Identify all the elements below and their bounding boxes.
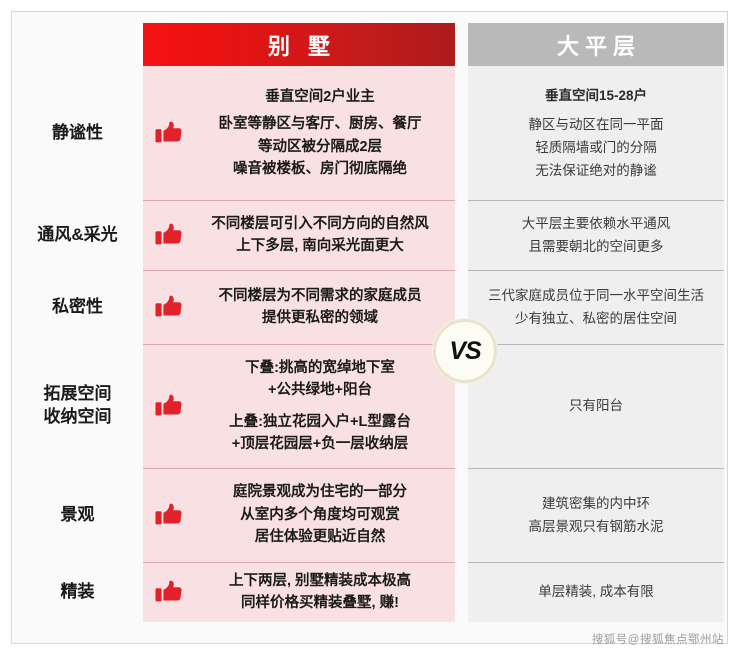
flat-cell-text: 只有阳台 — [476, 394, 716, 417]
villa-row-divider-2 — [143, 344, 455, 345]
villa-header-label: 别 墅 — [262, 29, 336, 61]
thumbs-up-icon — [149, 500, 191, 530]
vs-badge: VS — [433, 319, 497, 383]
villa-cell-1: 不同楼层可引入不同方向的自然风上下多层, 南向采光面更大 — [143, 200, 455, 270]
row-label-text: 景观 — [61, 504, 95, 527]
thumbs-up-icon — [149, 391, 191, 421]
column-gap — [455, 562, 468, 622]
flat-cell-text: 建筑密集的内中环高层景观只有钢筋水泥 — [476, 492, 716, 538]
row-label-5: 精装 — [12, 562, 143, 622]
column-gap — [455, 468, 468, 562]
villa-row-divider-4 — [143, 562, 455, 563]
flat-cell-text: 垂直空间15-28户静区与动区在同一平面轻质隔墙或门的分隔无法保证绝对的静谧 — [476, 84, 716, 183]
flat-cell-0: 垂直空间15-28户静区与动区在同一平面轻质隔墙或门的分隔无法保证绝对的静谧 — [468, 66, 724, 200]
table-row: 拓展空间收纳空间下叠:挑高的宽绰地下室+公共绿地+阳台上叠:独立花园入户+L型露… — [12, 344, 724, 468]
row-label-text: 拓展空间收纳空间 — [44, 383, 112, 429]
thumbs-up-icon — [149, 292, 191, 322]
villa-cell-text: 不同楼层可引入不同方向的自然风上下多层, 南向采光面更大 — [191, 213, 455, 258]
flat-row-divider-4 — [468, 562, 724, 563]
villa-cell-text: 下叠:挑高的宽绰地下室+公共绿地+阳台上叠:独立花园入户+L型露台+顶层花园层+… — [191, 357, 455, 456]
row-label-1: 通风&采光 — [12, 200, 143, 270]
flat-cell-text: 大平层主要依赖水平通风且需要朝北的空间更多 — [476, 212, 716, 258]
row-label-text: 精装 — [61, 581, 95, 604]
villa-cell-3: 下叠:挑高的宽绰地下室+公共绿地+阳台上叠:独立花园入户+L型露台+顶层花园层+… — [143, 344, 455, 468]
villa-cell-text: 庭院景观成为住宅的一部分从室内多个角度均可观赏居住体验更贴近自然 — [191, 481, 455, 548]
vs-badge-label: VS — [449, 337, 480, 366]
table-row: 私密性不同楼层为不同需求的家庭成员提供更私密的领域三代家庭成员位于同一水平空间生… — [12, 270, 724, 344]
column-gap — [455, 200, 468, 270]
flat-cell-text: 单层精装, 成本有限 — [476, 580, 716, 603]
thumbs-up-icon — [149, 220, 191, 250]
villa-cell-2: 不同楼层为不同需求的家庭成员提供更私密的领域 — [143, 270, 455, 344]
flat-row-divider-1 — [468, 270, 724, 271]
flat-column-header: 大平层 — [468, 23, 724, 66]
comparison-infographic: 别 墅 大平层 静谧性垂直空间2户业主卧室等静区与客厅、厨房、餐厅等动区被分隔成… — [0, 0, 740, 661]
villa-cell-text: 上下两层, 别墅精装成本极高同样价格买精装叠墅, 赚! — [191, 570, 455, 615]
flat-cell-5: 单层精装, 成本有限 — [468, 562, 724, 622]
row-label-4: 景观 — [12, 468, 143, 562]
villa-row-divider-1 — [143, 270, 455, 271]
villa-column-header: 别 墅 — [143, 23, 455, 66]
flat-header-label: 大平层 — [551, 29, 641, 61]
row-label-3: 拓展空间收纳空间 — [12, 344, 143, 468]
villa-cell-text: 不同楼层为不同需求的家庭成员提供更私密的领域 — [191, 285, 455, 330]
villa-cell-text: 垂直空间2户业主卧室等静区与客厅、厨房、餐厅等动区被分隔成2层噪音被楼板、房门彻… — [191, 86, 455, 181]
row-label-0: 静谧性 — [12, 66, 143, 200]
table-row: 静谧性垂直空间2户业主卧室等静区与客厅、厨房、餐厅等动区被分隔成2层噪音被楼板、… — [12, 66, 724, 200]
flat-cell-1: 大平层主要依赖水平通风且需要朝北的空间更多 — [468, 200, 724, 270]
villa-cell-4: 庭院景观成为住宅的一部分从室内多个角度均可观赏居住体验更贴近自然 — [143, 468, 455, 562]
villa-row-divider-3 — [143, 468, 455, 469]
villa-row-divider-0 — [143, 200, 455, 201]
table-row: 景观庭院景观成为住宅的一部分从室内多个角度均可观赏居住体验更贴近自然建筑密集的内… — [12, 468, 724, 562]
flat-cell-2: 三代家庭成员位于同一水平空间生活少有独立、私密的居住空间 — [468, 270, 724, 344]
table-row: 精装上下两层, 别墅精装成本极高同样价格买精装叠墅, 赚!单层精装, 成本有限 — [12, 562, 724, 622]
flat-row-divider-0 — [468, 200, 724, 201]
row-label-text: 私密性 — [52, 296, 103, 319]
column-gap — [455, 66, 468, 200]
row-label-text: 通风&采光 — [37, 224, 117, 247]
villa-cell-0: 垂直空间2户业主卧室等静区与客厅、厨房、餐厅等动区被分隔成2层噪音被楼板、房门彻… — [143, 66, 455, 200]
row-label-text: 静谧性 — [52, 122, 103, 145]
villa-cell-5: 上下两层, 别墅精装成本极高同样价格买精装叠墅, 赚! — [143, 562, 455, 622]
row-label-2: 私密性 — [12, 270, 143, 344]
thumbs-up-icon — [149, 118, 191, 148]
flat-row-divider-2 — [468, 344, 724, 345]
flat-row-divider-3 — [468, 468, 724, 469]
flat-cell-3: 只有阳台 — [468, 344, 724, 468]
thumbs-up-icon — [149, 577, 191, 607]
flat-cell-text: 三代家庭成员位于同一水平空间生活少有独立、私密的居住空间 — [476, 284, 716, 330]
flat-cell-4: 建筑密集的内中环高层景观只有钢筋水泥 — [468, 468, 724, 562]
table-row: 通风&采光不同楼层可引入不同方向的自然风上下多层, 南向采光面更大大平层主要依赖… — [12, 200, 724, 270]
comparison-grid: 静谧性垂直空间2户业主卧室等静区与客厅、厨房、餐厅等动区被分隔成2层噪音被楼板、… — [12, 66, 724, 622]
watermark: 搜狐号@搜狐焦点鄂州站 — [592, 631, 724, 647]
